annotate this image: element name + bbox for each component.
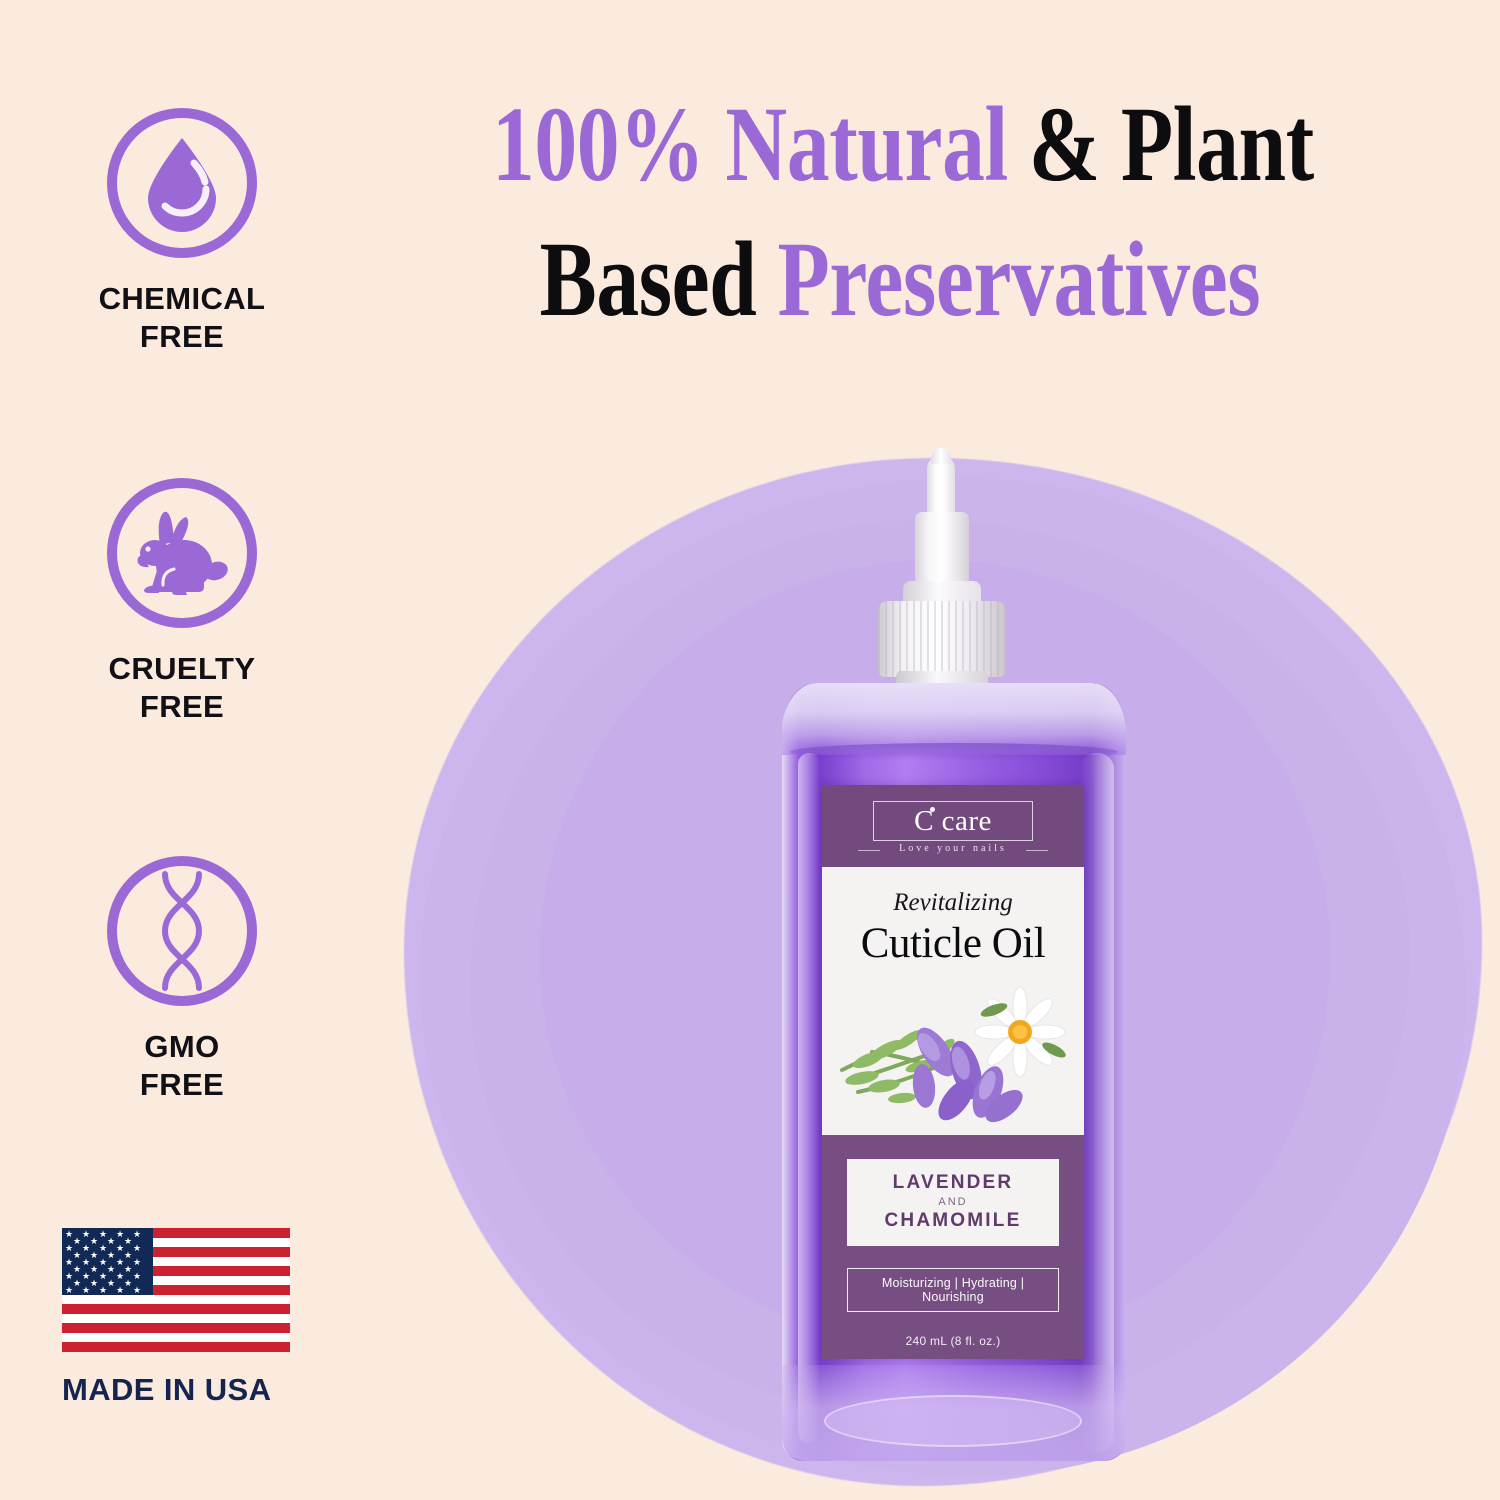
- brand-tagline: Love your nails: [822, 843, 1084, 854]
- label-title-panel: Revitalizing Cuticle Oil: [822, 867, 1084, 1135]
- benefits-text: Moisturizing | Hydrating | Nourishing: [852, 1276, 1054, 1304]
- bottle-foot-ring: [824, 1395, 1082, 1447]
- dna-helix-icon: [143, 870, 221, 992]
- variant-conjunction: AND: [853, 1196, 1053, 1208]
- made-in-usa-label: MADE IN USA: [62, 1372, 322, 1408]
- flag-canton: ★★★★★ ★★★★ ★★★★★ ★★★★ ★★★★★ ★★★★ ★★★★★ ★…: [62, 1228, 153, 1295]
- headline-line-1-rest: & Plant: [1029, 86, 1314, 204]
- brand-name: care: [942, 805, 992, 837]
- liquid-meniscus: [790, 743, 1118, 761]
- product-marketing-canvas: 100% Natural & Plant Based Preservatives…: [0, 0, 1500, 1500]
- volume-text: 240 mL (8 fl. oz.): [822, 1334, 1084, 1348]
- headline: 100% Natural & Plant Based Preservatives: [492, 78, 1308, 348]
- headline-line-1: 100% Natural & Plant: [492, 78, 1308, 213]
- badge-ring-cruelty-free: [107, 478, 257, 628]
- brand-logo-text: C care: [914, 805, 992, 838]
- badge-label-line1: CHEMICAL: [99, 281, 266, 316]
- badge-cruelty-free: CRUELTY FREE: [52, 478, 312, 726]
- headline-line-2-rest: Based: [540, 221, 778, 339]
- headline-line-2: Based Preservatives: [492, 213, 1308, 348]
- bottle-highlight-right: [1080, 753, 1114, 1453]
- product-bottle: C care Love your nails Revitalizing Cuti…: [760, 455, 1160, 1465]
- badge-label-gmo-free: GMO FREE: [52, 1028, 312, 1104]
- variant-line-1: LAVENDER: [853, 1172, 1053, 1194]
- brand-logo-dot: [930, 807, 935, 812]
- product-eyebrow: Revitalizing: [893, 889, 1012, 917]
- rabbit-icon: [130, 505, 234, 601]
- product-title: Cuticle Oil: [861, 919, 1045, 968]
- brand-logo: C care: [873, 801, 1033, 841]
- badge-label-line1: GMO: [144, 1029, 219, 1064]
- water-droplet-icon: [139, 133, 225, 233]
- badge-label-cruelty-free: CRUELTY FREE: [52, 650, 312, 726]
- usa-flag-icon: ★★★★★ ★★★★ ★★★★★ ★★★★ ★★★★★ ★★★★ ★★★★★ ★…: [62, 1228, 290, 1352]
- cap-tip: [927, 455, 955, 517]
- variant-box: LAVENDER AND CHAMOMILE: [847, 1159, 1059, 1246]
- headline-line-1-highlight: 100% Natural: [492, 86, 1029, 204]
- cap-neck: [915, 512, 969, 590]
- badge-ring-gmo-free: [107, 856, 257, 1006]
- badge-label-line2: FREE: [52, 1066, 312, 1104]
- headline-line-2-highlight: Preservatives: [777, 221, 1260, 339]
- badge-ring-chemical-free: [107, 108, 257, 258]
- label-variant-panel: LAVENDER AND CHAMOMILE Moisturizing | Hy…: [822, 1135, 1084, 1359]
- badge-label-line1: CRUELTY: [109, 651, 256, 686]
- badge-label-chemical-free: CHEMICAL FREE: [52, 280, 312, 356]
- bottle-highlight-left: [798, 753, 820, 1443]
- variant-line-2: CHAMOMILE: [853, 1210, 1053, 1232]
- product-label: C care Love your nails Revitalizing Cuti…: [822, 785, 1084, 1359]
- badge-label-line2: FREE: [52, 318, 312, 356]
- benefits-box: Moisturizing | Hydrating | Nourishing: [847, 1268, 1059, 1312]
- badge-made-in-usa: ★★★★★ ★★★★ ★★★★★ ★★★★ ★★★★★ ★★★★ ★★★★★ ★…: [52, 1228, 322, 1408]
- badge-chemical-free: CHEMICAL FREE: [52, 108, 312, 356]
- lavender-chamomile-illustration: [828, 974, 1078, 1124]
- cap-ribbed-ring: [878, 601, 1006, 677]
- label-brand-band: C care Love your nails: [822, 785, 1084, 867]
- badge-gmo-free: GMO FREE: [52, 856, 312, 1104]
- badge-label-line2: FREE: [52, 688, 312, 726]
